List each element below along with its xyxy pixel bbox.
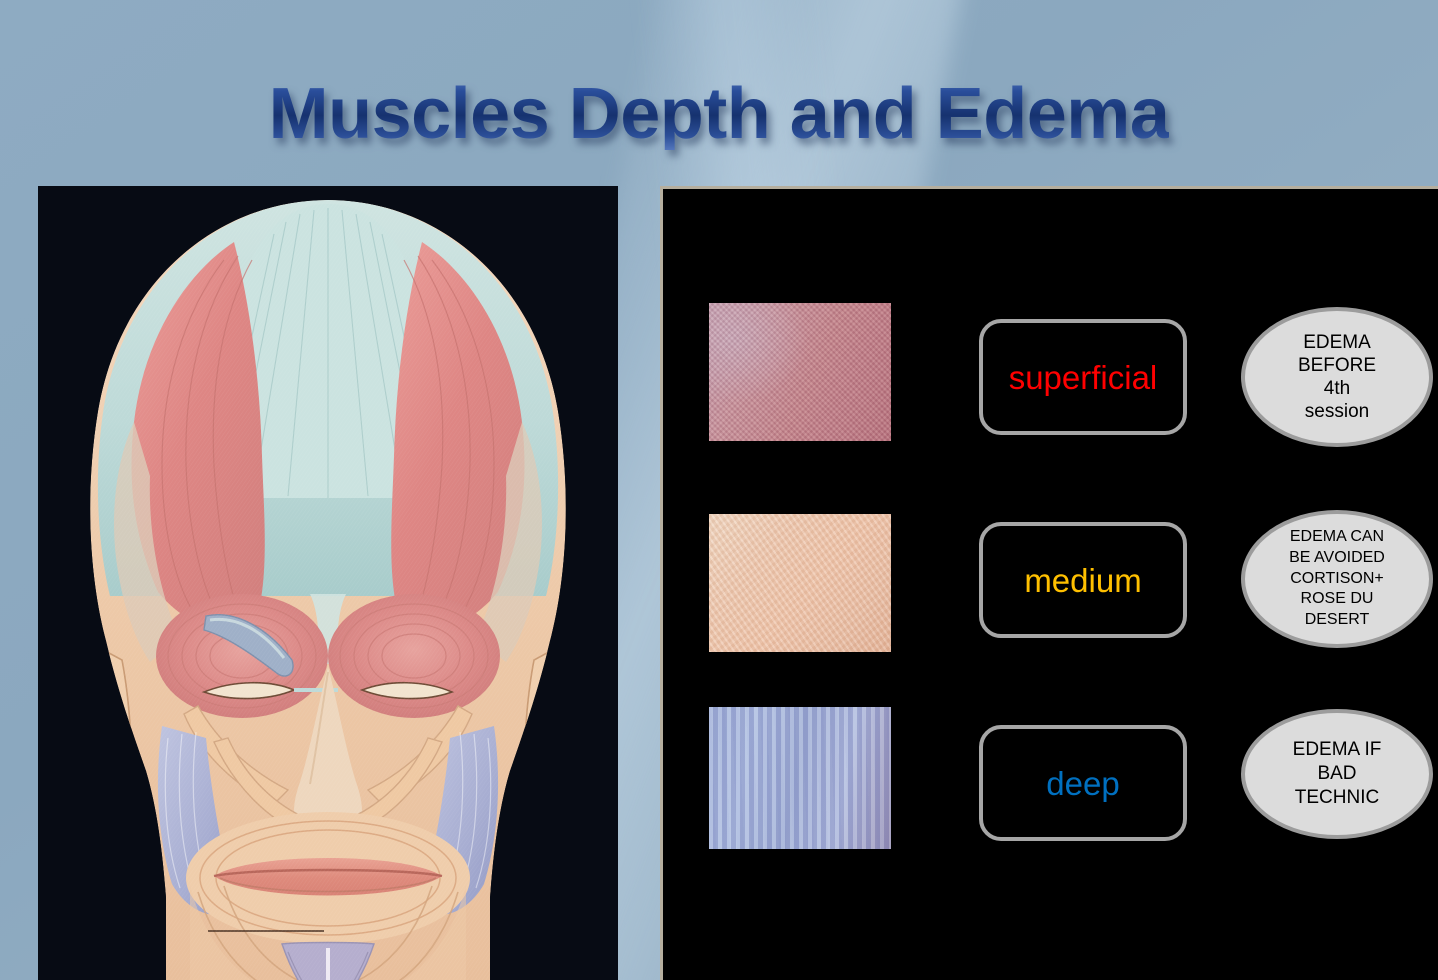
depth-label-box-superficial[interactable]: superficial <box>979 319 1187 435</box>
depth-label-superficial: superficial <box>1009 361 1158 394</box>
edema-callout-superficial[interactable]: EDEMA BEFORE 4th session <box>1241 307 1433 447</box>
deep-tissue-texture-swatch <box>709 707 891 849</box>
title-bar: Muscles Depth and Edema <box>0 78 1438 150</box>
depth-edema-panel: superficial EDEMA BEFORE 4th session med… <box>660 186 1438 980</box>
depth-label-medium: medium <box>1024 564 1141 597</box>
depth-row-deep: deep EDEMA IF BAD TECHNIC <box>663 707 1438 867</box>
depth-label-box-medium[interactable]: medium <box>979 522 1187 638</box>
depth-label-box-deep[interactable]: deep <box>979 725 1187 841</box>
edema-callout-medium[interactable]: EDEMA CAN BE AVOIDED CORTISON+ ROSE DU D… <box>1241 510 1433 648</box>
medium-skin-texture-swatch <box>709 514 891 652</box>
depth-label-deep: deep <box>1046 767 1119 800</box>
edema-callout-text-medium: EDEMA CAN BE AVOIDED CORTISON+ ROSE DU D… <box>1277 527 1397 631</box>
edema-callout-text-superficial: EDEMA BEFORE 4th session <box>1282 331 1392 424</box>
edema-callout-deep[interactable]: EDEMA IF BAD TECHNIC <box>1241 709 1433 839</box>
anatomy-image-panel <box>38 186 618 980</box>
facial-muscles-anatomy-illustration <box>38 186 618 980</box>
edema-callout-text-deep: EDEMA IF BAD TECHNIC <box>1277 738 1398 809</box>
depth-row-superficial: superficial EDEMA BEFORE 4th session <box>663 301 1438 461</box>
slide-canvas: Muscles Depth and Edema <box>0 0 1438 980</box>
page-title: Muscles Depth and Edema <box>269 78 1170 150</box>
depth-row-medium: medium EDEMA CAN BE AVOIDED CORTISON+ RO… <box>663 514 1438 674</box>
superficial-skin-texture-swatch <box>709 303 891 441</box>
